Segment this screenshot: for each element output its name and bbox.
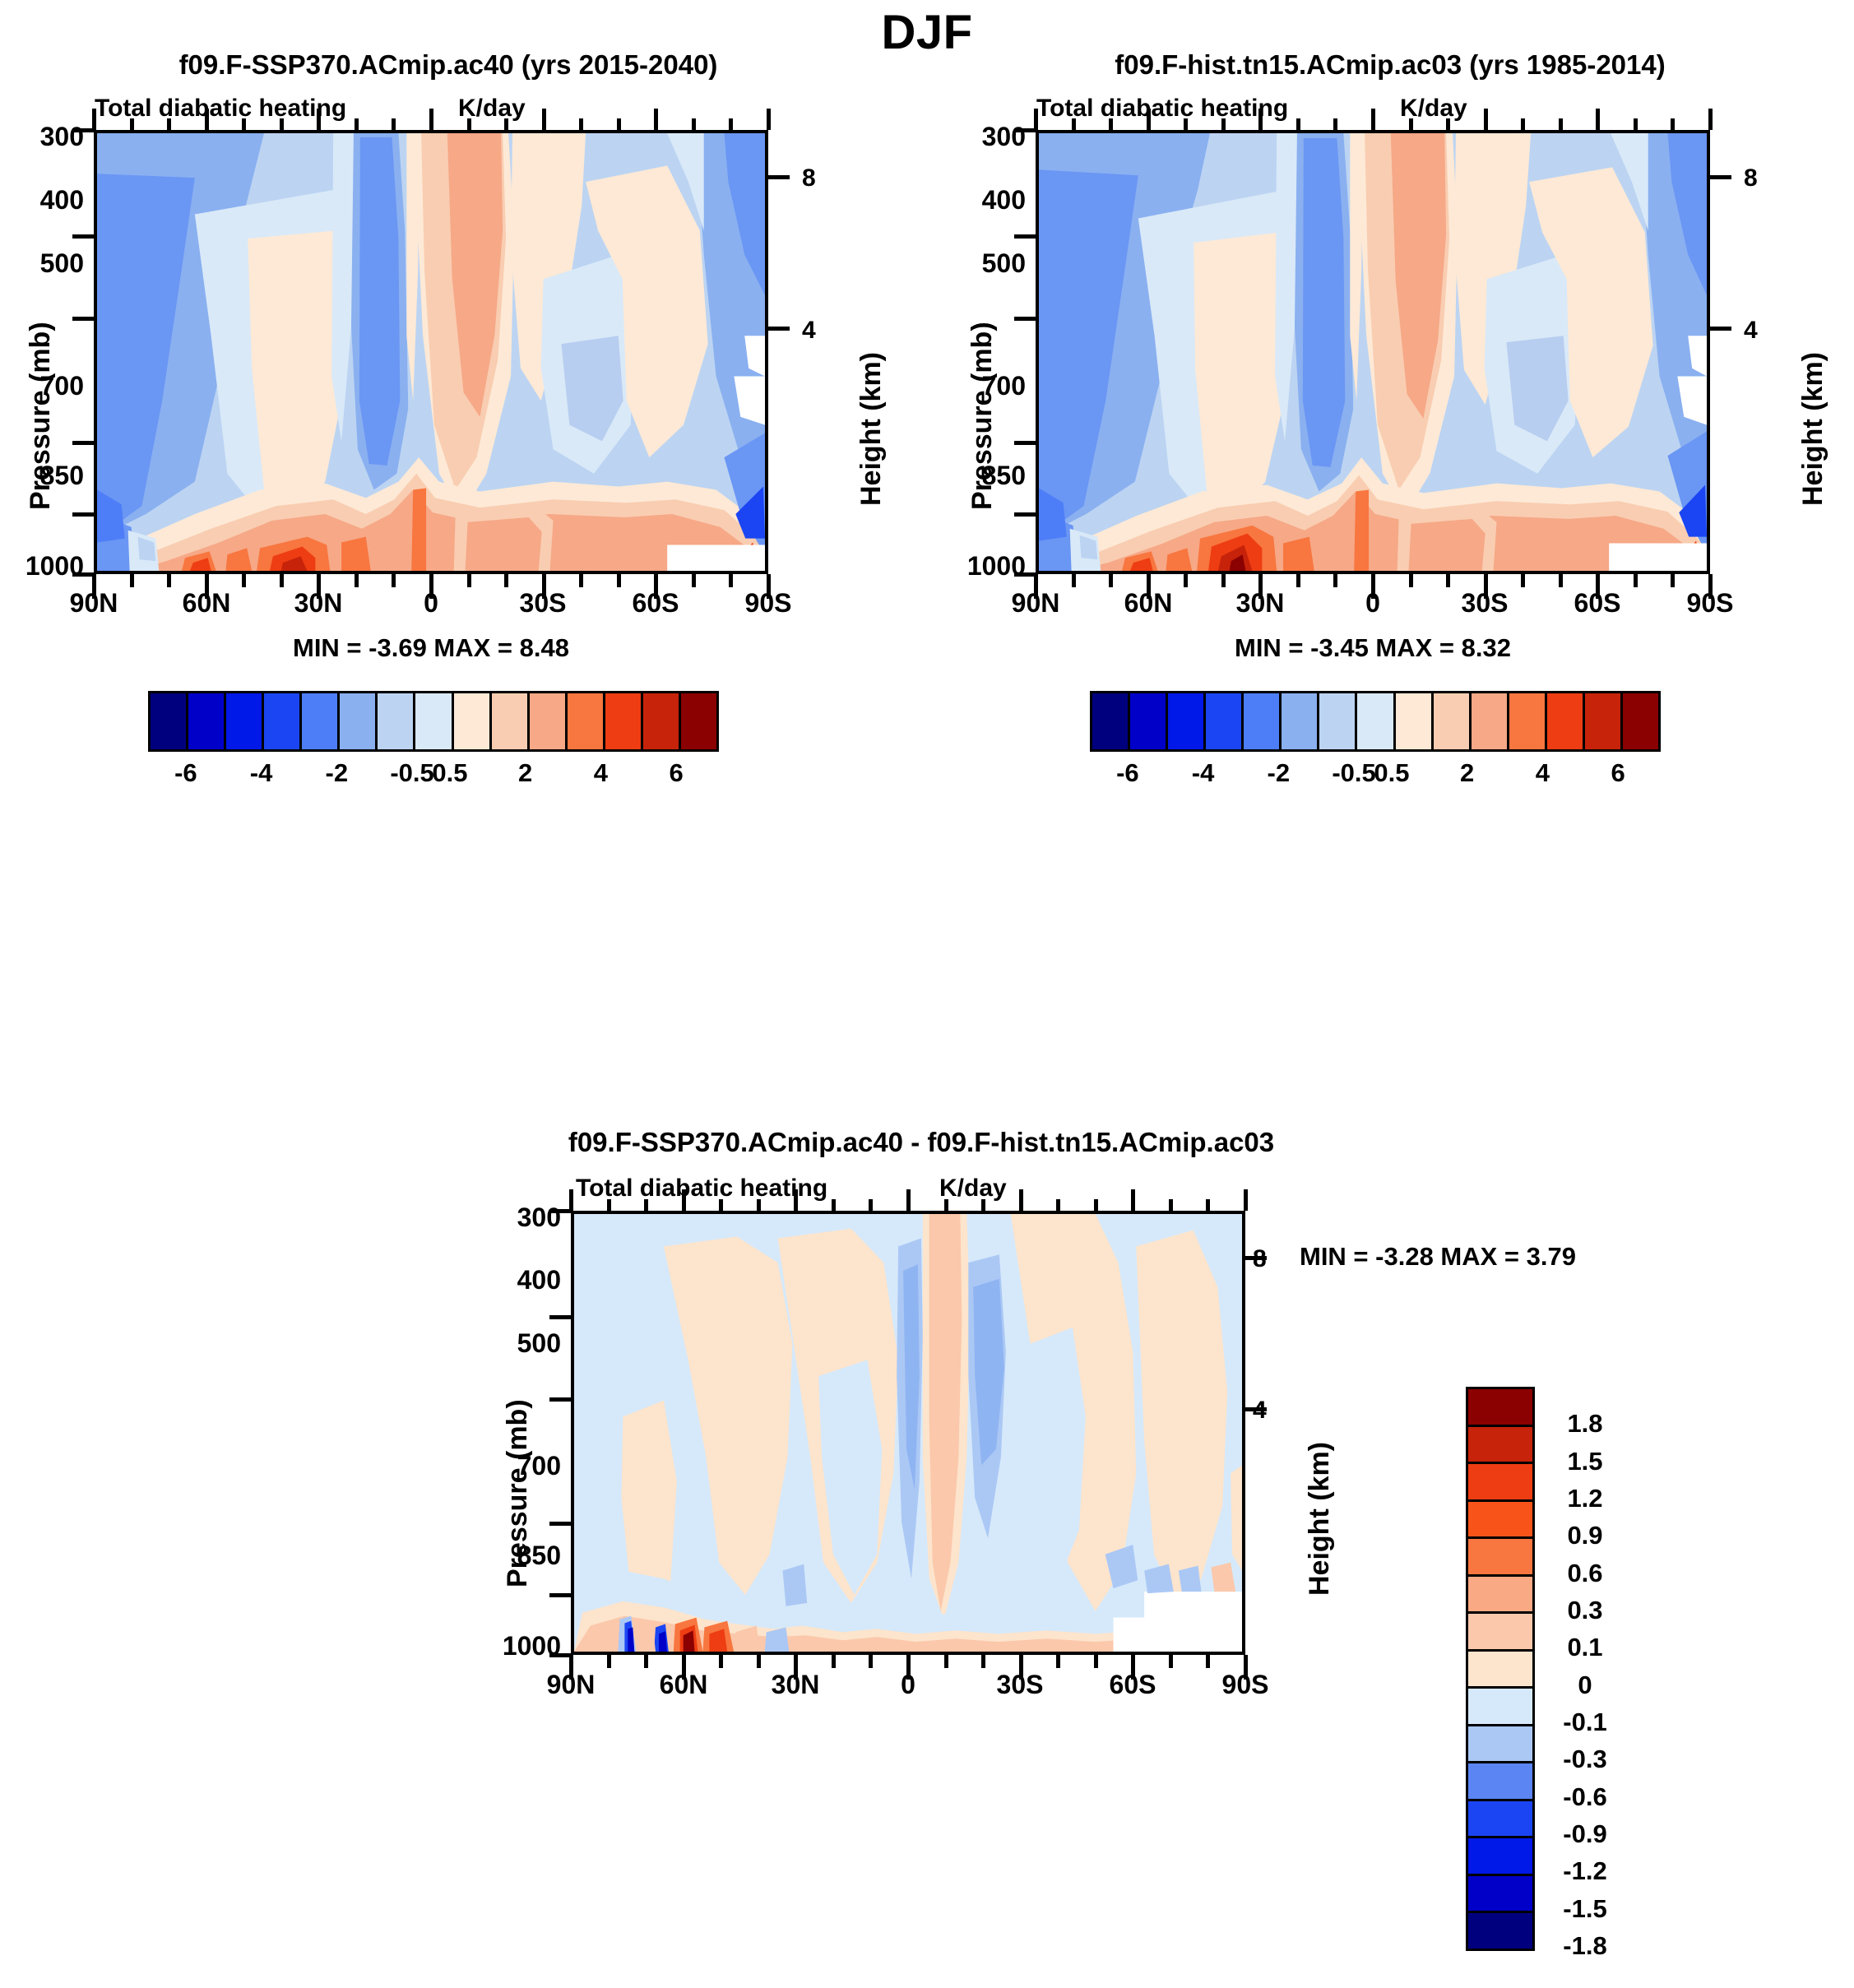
latitude-major-tick-top [794,1189,798,1211]
ptick-500: 500 [942,248,1026,279]
latitude-minor-tick [355,574,359,587]
ptick-300: 300 [942,122,1026,152]
latitude-minor-tick [1169,1655,1173,1668]
latitude-minor-tick-top [579,118,583,130]
latitude-minor-tick-top [644,1199,648,1211]
colorbar-tick-label: -4 [250,758,273,788]
latitude-minor-tick [392,574,396,587]
latitude-minor-tick-top [392,118,396,130]
colorbar-cell-10 [1472,693,1509,749]
latitude-minor-tick [617,574,621,587]
pressure-tick [1014,234,1036,239]
difference-colorbar-tick-label: 0.3 [1540,1596,1630,1625]
panel-bottom-contour-field [574,1214,1242,1652]
difference-colorbar-cell-10 [1468,1763,1532,1801]
latitude-minor-tick-top [1221,118,1226,130]
latitude-minor-tick [1206,1655,1210,1668]
latitude-major-tick-top [906,1189,911,1211]
panel-bottom-plot[interactable] [571,1211,1245,1655]
colorbar-tick-label: 0.5 [432,758,467,788]
colorbar-tick-label: -6 [174,758,197,788]
panel-bottom-units-label: K/day [939,1175,1007,1203]
colorbar-cell-7 [415,693,453,749]
colorbar-tick-label: 0.5 [1374,758,1409,788]
colorbar-tick-label: 2 [518,758,532,788]
latitude-major-tick [654,574,658,599]
latitude-minor-tick [1559,574,1563,587]
latitude-major-tick [1019,1655,1023,1680]
latitude-minor-tick-top [1409,118,1413,130]
latitude-minor-tick-top [1072,118,1076,130]
latitude-minor-tick-top [355,118,359,130]
latitude-major-tick-top [1371,109,1375,130]
colorbar-cell-12 [1547,693,1585,749]
colorbar-cell-3 [1206,693,1244,749]
difference-colorbar-tick-label: 0.6 [1540,1559,1630,1588]
colorbar-cell-2 [226,693,264,749]
pressure-tick [1014,317,1036,321]
difference-colorbar-cell-0 [1468,1389,1532,1427]
difference-colorbar-tick-label: 0 [1540,1671,1630,1700]
latitude-minor-tick-top [607,1199,611,1211]
latitude-minor-tick [757,1655,761,1668]
latitude-minor-tick [1221,574,1226,587]
colorbar-tick-label: -0.5 [1332,758,1375,788]
latitude-minor-tick [130,574,134,587]
panel-top-right: f09.F-hist.tn15.ACmip.ac03 (yrs 1985-201… [942,49,1838,987]
latitude-major-tick [205,574,209,599]
panel-top-right-title: f09.F-hist.tn15.ACmip.ac03 (yrs 1985-201… [942,49,1838,81]
panel-top-left-colorbar[interactable] [148,691,719,752]
latitude-minor-tick [1671,574,1675,587]
latitude-minor-tick [1333,574,1337,587]
latitude-minor-tick [644,1655,648,1668]
height-tick [1710,327,1731,331]
latitude-major-tick-top [1244,1189,1248,1211]
latitude-minor-tick-top [729,118,733,130]
difference-colorbar-cell-14 [1468,1913,1532,1949]
colorbar-cell-6 [378,693,415,749]
latitude-major-tick [92,574,96,599]
colorbar-cell-9 [1434,693,1472,749]
difference-colorbar-cell-13 [1468,1876,1532,1914]
latitude-minor-tick [1296,574,1300,587]
latitude-minor-tick-top [1333,118,1337,130]
colorbar-cell-0 [1092,693,1130,749]
difference-colorbar-cell-7 [1468,1652,1532,1689]
pressure-tick [1014,572,1036,577]
panel-top-left-contour-field [97,133,765,571]
latitude-major-tick-top [569,1189,573,1211]
latitude-minor-tick [504,574,508,587]
difference-colorbar-tick-label: 0.1 [1540,1633,1630,1662]
panel-bottom-title: f09.F-SSP370.ACmip.ac40 - f09.F-hist.tn1… [469,1127,1374,1158]
colorbar-tick-label: -6 [1116,758,1139,788]
latitude-major-tick [429,574,433,599]
difference-colorbar-tick-label: 1.8 [1540,1409,1630,1439]
latitude-minor-tick [729,574,733,587]
difference-colorbar-cell-2 [1468,1464,1532,1502]
colorbar-tick-label: 6 [670,758,684,788]
pressure-tick [549,1593,571,1597]
pressure-tick [549,1522,571,1526]
latitude-minor-tick-top [1296,118,1300,130]
latitude-minor-tick-top [1521,118,1525,130]
latitude-minor-tick-top [1094,1199,1098,1211]
panel-top-right-plot[interactable] [1036,130,1710,574]
htick-4: 4 [802,317,816,345]
latitude-minor-tick-top [1184,118,1188,130]
latitude-minor-tick-top [467,118,471,130]
ptick-700: 700 [0,371,84,401]
height-tick [768,327,790,331]
difference-colorbar-tick-label: -1.2 [1540,1856,1630,1886]
colorbar-cell-10 [530,693,568,749]
latitude-minor-tick-top [944,1199,948,1211]
latitude-major-tick [794,1655,798,1680]
latitude-major-tick [767,574,771,599]
ptick-700: 700 [942,371,1026,401]
ptick-1000: 1000 [942,551,1026,582]
latitude-major-tick [542,574,546,599]
pressure-tick [549,1397,571,1402]
latitude-minor-tick-top [130,118,134,130]
colorbar-tick-label: 4 [594,758,608,788]
latitude-minor-tick-top [617,118,621,130]
latitude-major-tick-top [542,109,546,130]
latitude-major-tick-top [1596,109,1600,130]
htick-8: 8 [802,165,816,192]
latitude-minor-tick-top [869,1199,873,1211]
difference-colorbar-tick-label: -0.6 [1540,1782,1630,1812]
panel-top-left-height-axis-title: Height (km) [855,352,888,506]
latitude-minor-tick [719,1655,723,1668]
difference-colorbar-cell-11 [1468,1801,1532,1839]
pressure-tick [72,512,94,517]
pressure-tick [72,441,94,445]
latitude-minor-tick [1634,574,1638,587]
colorbar-tick-label: 2 [1460,758,1474,788]
panel-top-right-height-axis-title: Height (km) [1797,352,1829,506]
latitude-major-tick-top [682,1189,686,1211]
colorbar-tick-label: 4 [1536,758,1550,788]
difference-colorbar-cell-6 [1468,1614,1532,1652]
colorbar-cell-13 [643,693,681,749]
panel-top-right-colorbar[interactable] [1090,691,1661,752]
htick-4: 4 [1744,317,1758,345]
height-tick [768,175,790,179]
latitude-minor-tick [167,574,171,587]
latitude-major-tick-top [1019,1189,1023,1211]
latitude-minor-tick-top [1206,1199,1210,1211]
pressure-tick [72,128,94,132]
colorbar-tick-label: -4 [1192,758,1215,788]
latitude-minor-tick-top [1446,118,1450,130]
pressure-tick [549,1209,571,1213]
difference-colorbar-cell-3 [1468,1502,1532,1540]
latitude-minor-tick-top [692,118,696,130]
height-tick [1245,1407,1267,1411]
latitude-minor-tick-top [1169,1199,1173,1211]
latitude-major-tick [317,574,321,599]
colorbar-cell-14 [681,693,716,749]
latitude-major-tick [1258,574,1263,599]
colorbar-cell-7 [1357,693,1395,749]
pressure-tick [72,572,94,577]
latitude-minor-tick [467,574,471,587]
colorbar-cell-11 [568,693,605,749]
colorbar-cell-5 [340,693,378,749]
latitude-minor-tick-top [719,1199,723,1211]
panel-top-left-minmax: MIN = -3.69 MAX = 8.48 [94,633,768,663]
pressure-tick [549,1315,571,1319]
colorbar-cell-4 [302,693,340,749]
difference-colorbar-tick-label: 1.2 [1540,1484,1630,1513]
panel-top-left-plot[interactable] [94,130,768,574]
ptick-850: 850 [477,1541,561,1571]
latitude-major-tick [1484,574,1488,599]
ptick-300: 300 [0,122,84,152]
latitude-minor-tick-top [757,1199,761,1211]
colorbar-cell-5 [1282,693,1319,749]
colorbar-tick-label: -0.5 [390,758,433,788]
pressure-tick [72,234,94,239]
latitude-major-tick-top [767,109,771,130]
latitude-minor-tick-top [280,118,284,130]
difference-colorbar-cell-12 [1468,1838,1532,1876]
latitude-minor-tick [981,1655,985,1668]
ptick-500: 500 [0,248,84,279]
panel-top-left-title: f09.F-SSP370.ACmip.ac40 (yrs 2015-2040) [0,49,897,81]
latitude-minor-tick [607,1655,611,1668]
latitude-major-tick [1371,574,1375,599]
panel-top-left-colorbar-labels: -6-4-2-0.50.5246 [148,758,714,791]
latitude-major-tick-top [317,109,321,130]
height-tick [1710,175,1731,179]
difference-colorbar[interactable] [1466,1387,1535,1951]
latitude-minor-tick [280,574,284,587]
latitude-minor-tick-top [1634,118,1638,130]
latitude-minor-tick-top [1559,118,1563,130]
colorbar-cell-13 [1585,693,1623,749]
colorbar-cell-0 [151,693,188,749]
ptick-1000: 1000 [0,551,84,582]
panel-bottom: f09.F-SSP370.ACmip.ac40 - f09.F-hist.tn1… [477,1127,1382,1982]
latitude-minor-tick [869,1655,873,1668]
colorbar-cell-11 [1509,693,1547,749]
latitude-minor-tick [1072,574,1076,587]
latitude-minor-tick-top [242,118,246,130]
ptick-400: 400 [0,185,84,215]
latitude-minor-tick [1109,574,1113,587]
latitude-major-tick [1147,574,1151,599]
colorbar-cell-4 [1244,693,1282,749]
colorbar-cell-2 [1168,693,1206,749]
latitude-major-tick [1034,574,1038,599]
pressure-tick [1014,128,1036,132]
difference-colorbar-cell-8 [1468,1689,1532,1726]
latitude-major-tick [1708,574,1713,599]
latitude-major-tick [1131,1655,1135,1680]
colorbar-tick-label: 6 [1611,758,1625,788]
ptick-400: 400 [477,1265,561,1295]
latitude-major-tick-top [1258,109,1263,130]
ptick-300: 300 [477,1203,561,1233]
panel-bottom-variable-label: Total diabatic heating [576,1175,827,1203]
latitude-major-tick [569,1655,573,1680]
latitude-minor-tick-top [504,118,508,130]
panel-top-right-colorbar-labels: -6-4-2-0.50.5246 [1090,758,1656,791]
pressure-tick [1014,441,1036,445]
ptick-500: 500 [477,1328,561,1359]
latitude-minor-tick-top [1056,1199,1060,1211]
colorbar-cell-8 [1396,693,1434,749]
latitude-minor-tick-top [1109,118,1113,130]
ptick-850: 850 [0,461,84,491]
ptick-700: 700 [477,1451,561,1481]
latitude-minor-tick-top [167,118,171,130]
panel-bottom-minmax: MIN = -3.28 MAX = 3.79 [1300,1242,1727,1272]
colorbar-cell-8 [454,693,492,749]
colorbar-cell-6 [1319,693,1357,749]
panel-top-right-contour-field [1039,133,1707,571]
latitude-minor-tick-top [1671,118,1675,130]
latitude-major-tick [682,1655,686,1680]
height-tick [1245,1256,1267,1260]
latitude-minor-tick-top [981,1199,985,1211]
latitude-major-tick [1244,1655,1248,1680]
difference-colorbar-tick-label: 0.9 [1540,1521,1630,1550]
latitude-minor-tick [944,1655,948,1668]
latitude-minor-tick [1056,1655,1060,1668]
colorbar-cell-14 [1623,693,1658,749]
ptick-1000: 1000 [477,1631,561,1661]
difference-colorbar-tick-label: -0.1 [1540,1708,1630,1737]
latitude-major-tick-top [92,109,96,130]
colorbar-cell-3 [264,693,302,749]
latitude-major-tick-top [1484,109,1488,130]
latitude-major-tick-top [429,109,433,130]
latitude-major-tick-top [205,109,209,130]
difference-colorbar-tick-label: -0.9 [1540,1819,1630,1849]
difference-colorbar-labels: 1.81.51.20.90.60.30.10-0.1-0.3-0.6-0.9-1… [1540,1387,1638,1946]
latitude-major-tick-top [654,109,658,130]
difference-colorbar-cell-4 [1468,1539,1532,1577]
latitude-minor-tick [1094,1655,1098,1668]
latitude-minor-tick [832,1655,836,1668]
latitude-minor-tick [1446,574,1450,587]
difference-colorbar-tick-label: -0.3 [1540,1745,1630,1774]
difference-colorbar-cell-1 [1468,1427,1532,1465]
latitude-major-tick-top [1708,109,1713,130]
latitude-minor-tick [242,574,246,587]
latitude-minor-tick [579,574,583,587]
latitude-major-tick-top [1147,109,1151,130]
colorbar-tick-label: -2 [1268,758,1291,788]
colorbar-cell-9 [492,693,530,749]
panel-top-right-minmax: MIN = -3.45 MAX = 8.32 [1036,633,1710,663]
latitude-minor-tick [692,574,696,587]
latitude-major-tick [906,1655,911,1680]
latitude-minor-tick [1184,574,1188,587]
difference-colorbar-cell-5 [1468,1577,1532,1615]
ptick-850: 850 [942,461,1026,491]
latitude-minor-tick [1409,574,1413,587]
colorbar-cell-12 [605,693,643,749]
latitude-major-tick [1596,574,1600,599]
panel-top-left: f09.F-SSP370.ACmip.ac40 (yrs 2015-2040) … [0,49,897,987]
ptick-400: 400 [942,185,1026,215]
panel-bottom-height-axis-title: Height (km) [1304,1442,1336,1596]
colorbar-cell-1 [1130,693,1168,749]
colorbar-cell-1 [188,693,226,749]
difference-colorbar-tick-label: -1.5 [1540,1894,1630,1924]
colorbar-tick-label: -2 [326,758,349,788]
difference-colorbar-tick-label: 1.5 [1540,1447,1630,1476]
difference-colorbar-cell-9 [1468,1726,1532,1764]
latitude-major-tick-top [1034,109,1038,130]
pressure-tick [72,317,94,321]
latitude-minor-tick-top [832,1199,836,1211]
pressure-tick [549,1653,571,1657]
pressure-tick [1014,512,1036,517]
difference-colorbar-tick-label: -1.8 [1540,1931,1630,1961]
latitude-minor-tick [1521,574,1525,587]
htick-8: 8 [1744,165,1758,192]
latitude-major-tick-top [1131,1189,1135,1211]
